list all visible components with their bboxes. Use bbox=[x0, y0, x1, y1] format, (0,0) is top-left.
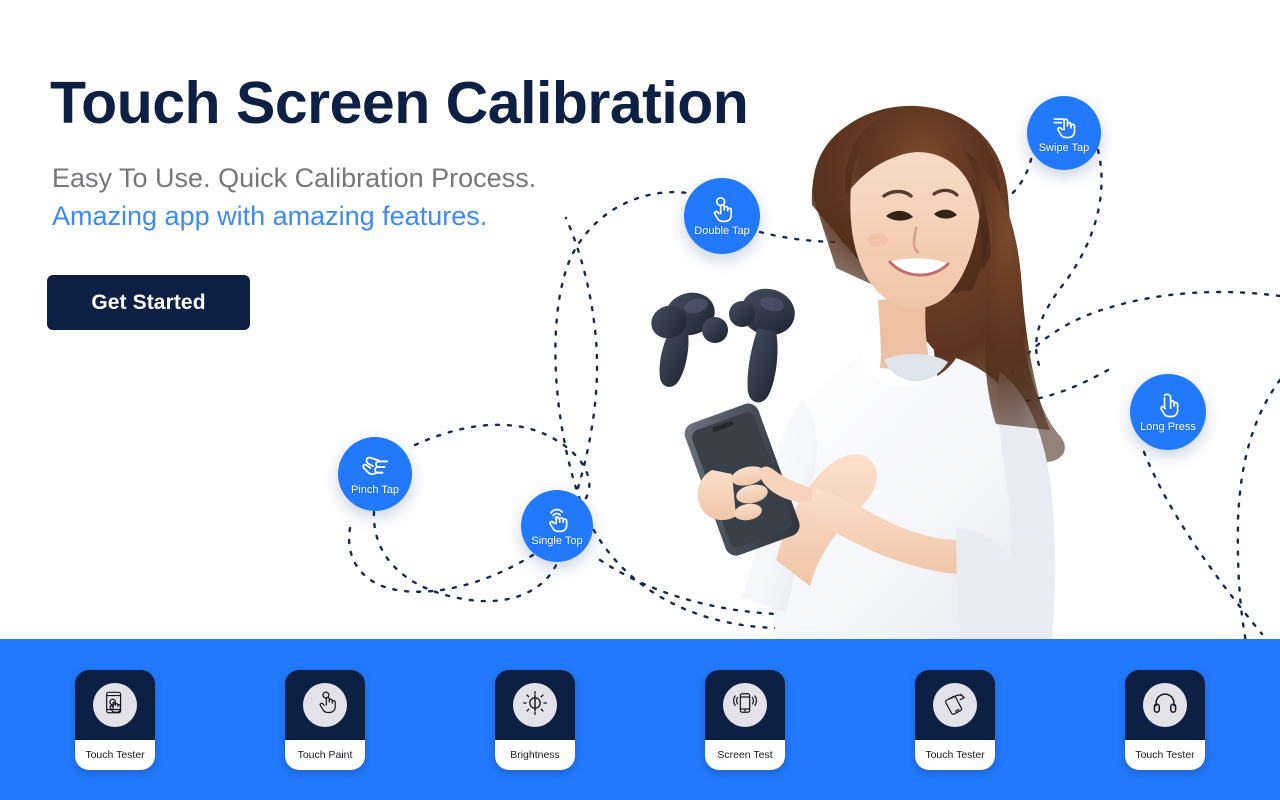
sun-brightness-icon bbox=[522, 690, 548, 721]
feature-card-screen-test[interactable]: Screen Test bbox=[705, 670, 785, 770]
card-icon-area bbox=[285, 670, 365, 740]
card-label: Touch Tester bbox=[1125, 740, 1205, 770]
swipe-hand-icon bbox=[1050, 113, 1078, 141]
double-tap-hand-icon bbox=[708, 196, 736, 224]
feature-card-touch-paint[interactable]: Touch Paint bbox=[285, 670, 365, 770]
card-icon-area bbox=[1125, 670, 1205, 740]
single-tap-hand-icon bbox=[543, 506, 571, 534]
page-title: Touch Screen Calibration bbox=[50, 72, 748, 136]
card-icon-area bbox=[915, 670, 995, 740]
gesture-badge-single-top[interactable]: Single Top bbox=[521, 490, 593, 562]
icon-circle bbox=[513, 683, 557, 727]
icon-circle bbox=[93, 683, 137, 727]
icon-circle bbox=[723, 683, 767, 727]
gesture-badge-long-press[interactable]: Long Press bbox=[1130, 374, 1206, 450]
card-icon-area bbox=[705, 670, 785, 740]
feature-card-list: Touch Tester Touch Paint bbox=[0, 670, 1280, 770]
feature-card-touch-tester-rotate[interactable]: Touch Tester bbox=[915, 670, 995, 770]
card-label: Touch Tester bbox=[75, 740, 155, 770]
long-press-hand-icon bbox=[1154, 392, 1182, 420]
gesture-badge-label: Single Top bbox=[531, 535, 582, 547]
card-label: Touch Tester bbox=[915, 740, 995, 770]
gesture-badge-pinch-tap[interactable]: Pinch Tap bbox=[338, 437, 412, 511]
phone-vibrate-icon bbox=[732, 690, 758, 721]
icon-circle bbox=[1143, 683, 1187, 727]
card-icon-area bbox=[75, 670, 155, 740]
card-label: Touch Paint bbox=[285, 740, 365, 770]
gesture-badge-label: Long Press bbox=[1140, 421, 1196, 433]
card-label: Brightness bbox=[495, 740, 575, 770]
feature-card-touch-tester[interactable]: Touch Tester bbox=[75, 670, 155, 770]
card-icon-area bbox=[495, 670, 575, 740]
get-started-button[interactable]: Get Started bbox=[47, 275, 250, 330]
feature-card-touch-tester-audio[interactable]: Touch Tester bbox=[1125, 670, 1205, 770]
gesture-badge-double-tap[interactable]: Double Tap bbox=[684, 178, 760, 254]
gesture-badge-label: Pinch Tap bbox=[351, 484, 399, 496]
subtitle-line-2: Amazing app with amazing features. bbox=[52, 201, 487, 232]
card-label: Screen Test bbox=[705, 740, 785, 770]
subtitle-line-1: Easy To Use. Quick Calibration Process. bbox=[52, 163, 536, 194]
gesture-badge-swipe-tap[interactable]: Swipe Tap bbox=[1027, 96, 1101, 170]
gesture-badge-label: Double Tap bbox=[694, 225, 749, 237]
icon-circle bbox=[303, 683, 347, 727]
hand-paint-icon bbox=[312, 690, 338, 721]
headphones-icon bbox=[1152, 690, 1178, 721]
app-landing-page: Touch Screen Calibration Easy To Use. Qu… bbox=[0, 0, 1280, 800]
phone-touch-icon bbox=[102, 690, 128, 721]
pinch-hand-icon bbox=[360, 453, 390, 483]
icon-circle bbox=[933, 683, 977, 727]
gesture-badge-label: Swipe Tap bbox=[1039, 142, 1090, 154]
feature-card-brightness[interactable]: Brightness bbox=[495, 670, 575, 770]
wireless-earbuds-image bbox=[646, 283, 799, 402]
phone-rotate-icon bbox=[942, 690, 968, 721]
